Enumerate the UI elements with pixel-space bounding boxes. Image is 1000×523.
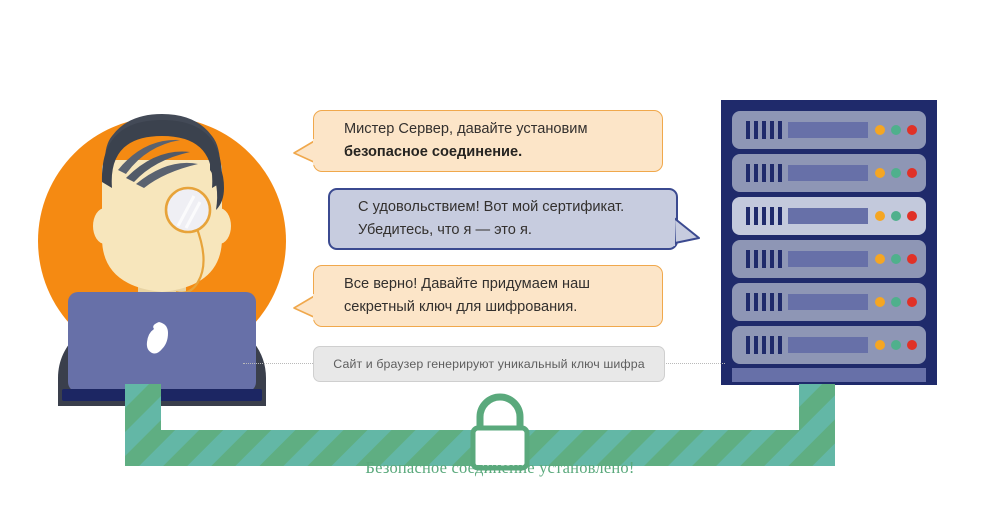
speech-bubble-user-1[interactable]: Мистер Сервер, давайте установим безопас…: [313, 110, 663, 172]
server-rack-svg: [721, 100, 937, 385]
led-orange-icon: [875, 125, 885, 135]
led-green-icon: [891, 168, 901, 178]
browser-user-illustration: [28, 86, 296, 406]
bubble-3-line-2: секретный ключ для шифрования.: [344, 299, 577, 315]
led-orange-icon: [875, 340, 885, 350]
bubble-2-line-1: С удовольствием! Вот мой сертификат.: [358, 199, 624, 215]
dotted-connector-right: [663, 363, 725, 364]
bubble-3-line-1: Все верно! Давайте придумаем наш: [344, 276, 590, 292]
led-green-icon: [891, 340, 901, 350]
led-red-icon: [907, 297, 917, 307]
led-orange-icon: [875, 254, 885, 264]
speech-bubble-user-1-text: Мистер Сервер, давайте установим безопас…: [314, 118, 662, 163]
led-orange-icon: [875, 168, 885, 178]
led-orange-icon: [875, 297, 885, 307]
rack-unit: [732, 154, 926, 192]
rack-unit-active: [732, 197, 926, 235]
rack-unit: [732, 111, 926, 149]
dotted-connector-left: [243, 363, 317, 364]
led-orange-icon: [875, 211, 885, 221]
led-green-icon: [891, 211, 901, 221]
speech-bubble-user-2-text: Все верно! Давайте придумаем наш секретн…: [314, 273, 662, 318]
key-generation-status-chip: Сайт и браузер генерируют уникальный клю…: [313, 346, 665, 382]
caption-secure-connection: Безопасное соединение установлено!: [0, 458, 1000, 478]
rack-unit: [732, 283, 926, 321]
led-red-icon: [907, 211, 917, 221]
speech-bubble-server-text: С удовольствием! Вот мой сертификат. Убе…: [330, 196, 676, 241]
person-svg: [28, 86, 296, 406]
status-chip-text: Сайт и браузер генерируют уникальный клю…: [333, 357, 644, 371]
bubble-tail-right-icon: [673, 216, 701, 246]
led-red-icon: [907, 254, 917, 264]
led-green-icon: [891, 125, 901, 135]
bubble-2-line-2: Убедитесь, что я — это я.: [358, 222, 532, 238]
rack-unit: [732, 240, 926, 278]
unit-bar: [788, 122, 868, 138]
server-rack-illustration: [721, 100, 937, 385]
led-red-icon: [907, 340, 917, 350]
rack-unit: [732, 326, 926, 364]
led-green-icon: [891, 254, 901, 264]
bubble-1-line-1: Мистер Сервер, давайте установим: [344, 121, 587, 137]
rack-bottom-bar: [732, 368, 926, 382]
speech-bubble-server[interactable]: С удовольствием! Вот мой сертификат. Убе…: [328, 188, 678, 250]
infographic-canvas: Мистер Сервер, давайте установим безопас…: [0, 0, 1000, 523]
bubble-1-line-2: безопасное соединение.: [344, 144, 522, 160]
bubble-tail-left-icon: [293, 139, 317, 165]
bubble-tail-left-icon: [293, 294, 317, 320]
led-red-icon: [907, 168, 917, 178]
speech-bubble-user-2[interactable]: Все верно! Давайте придумаем наш секретн…: [313, 265, 663, 327]
led-red-icon: [907, 125, 917, 135]
led-green-icon: [891, 297, 901, 307]
